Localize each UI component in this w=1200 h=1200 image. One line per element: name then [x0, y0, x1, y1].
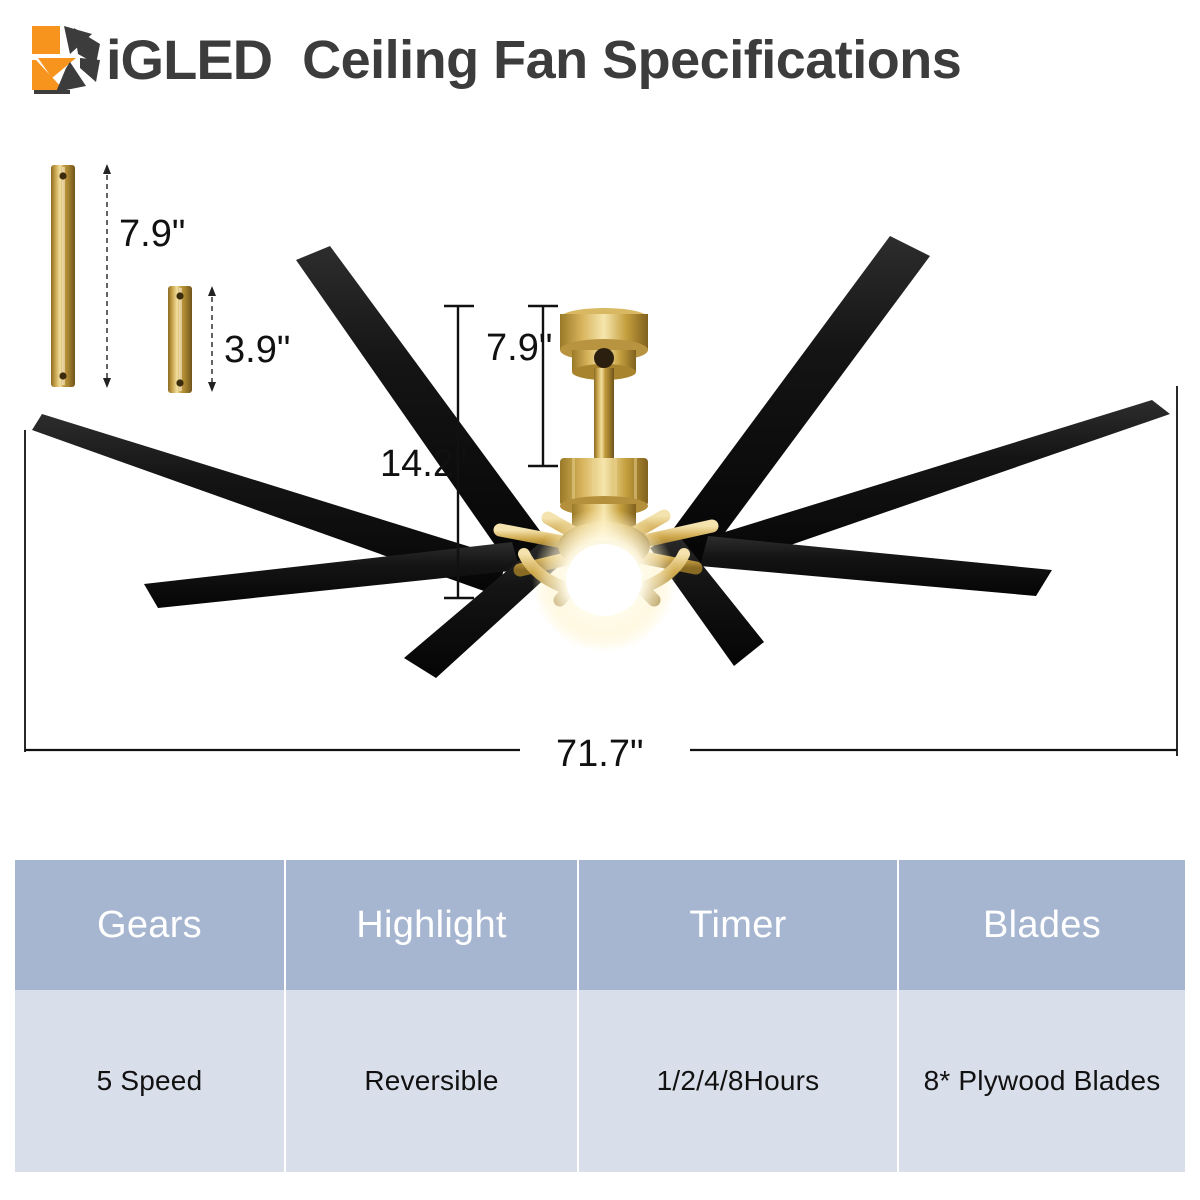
- page-title: Ceiling Fan Specifications: [302, 33, 961, 87]
- ceiling-fan-diagram: 7.9" 3.9": [0, 118, 1200, 828]
- svg-text:7.9": 7.9": [119, 213, 185, 255]
- table-header-row: Gears Highlight Timer Blades: [15, 860, 1185, 990]
- led-light-kit: [532, 508, 676, 652]
- cell-highlight-value: Reversible: [285, 990, 578, 1172]
- canopy-height-dimension: 7.9": [486, 306, 558, 466]
- short-downrod-illustration: [168, 286, 192, 393]
- column-header-blades: Blades: [898, 860, 1185, 990]
- page-header: iGLED Ceiling Fan Specifications: [0, 0, 1200, 120]
- cell-blades-value: 8* Plywood Blades: [898, 990, 1185, 1172]
- brand-name: iGLED: [106, 32, 272, 88]
- aperture-d-logo-icon: [26, 24, 112, 96]
- svg-text:71.7": 71.7": [556, 733, 643, 775]
- cell-gears-value: 5 Speed: [15, 990, 285, 1172]
- cell-timer-value: 1/2/4/8Hours: [578, 990, 898, 1172]
- column-header-gears: Gears: [15, 860, 285, 990]
- table-row: 5 Speed Reversible 1/2/4/8Hours 8* Plywo…: [15, 990, 1185, 1172]
- fan-diagram-svg: 7.9" 3.9": [0, 118, 1200, 828]
- ceiling-mount-assembly: [560, 308, 648, 463]
- column-header-timer: Timer: [578, 860, 898, 990]
- svg-text:7.9": 7.9": [486, 327, 552, 369]
- specifications-table: Gears Highlight Timer Blades 5 Speed Rev…: [15, 860, 1185, 1172]
- brand-logo: iGLED: [26, 23, 272, 97]
- column-header-highlight: Highlight: [285, 860, 578, 990]
- svg-text:14.2": 14.2": [380, 443, 467, 485]
- short-downrod-dimension: 3.9": [208, 286, 290, 392]
- svg-text:3.9": 3.9": [224, 329, 290, 371]
- long-downrod-illustration: [51, 165, 75, 387]
